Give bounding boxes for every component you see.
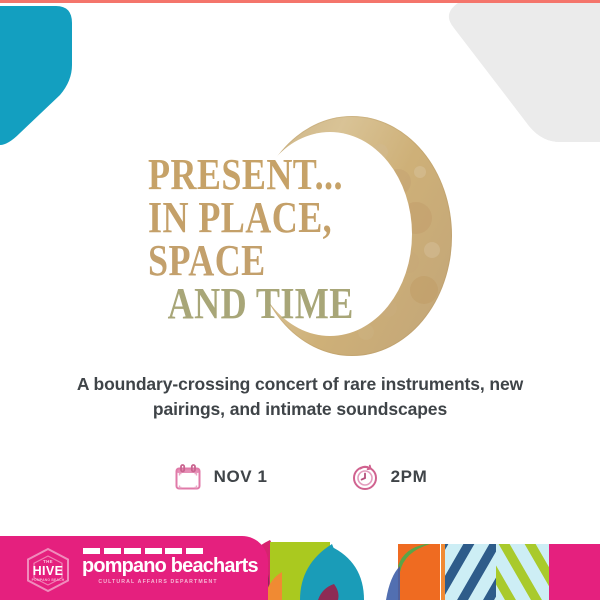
calendar-icon-svg	[173, 462, 203, 492]
title-line-2: IN PLACE,	[148, 198, 519, 239]
calendar-icon	[173, 462, 203, 492]
pompano-beach-arts-logo: pompano beacharts CULTURAL AFFAIRS DEPAR…	[82, 548, 242, 592]
event-date-label: NOV 1	[214, 467, 268, 487]
stopwatch-icon	[350, 462, 380, 492]
top-accent-rule	[0, 0, 600, 3]
pba-tagline: CULTURAL AFFAIRS DEPARTMENT	[82, 579, 234, 585]
event-poster: PRESENT... IN PLACE, SPACE AND TIME A bo…	[0, 0, 600, 600]
poster-title: PRESENT... IN PLACE, SPACE AND TIME	[0, 155, 600, 325]
hive-logo-main-text: HIVE	[24, 564, 72, 578]
event-time: 2PM	[350, 462, 428, 492]
stopwatch-icon-svg	[350, 462, 380, 492]
poster-subtitle: A boundary-crossing concert of rare inst…	[0, 372, 600, 422]
title-line-4: AND TIME	[148, 284, 519, 325]
bottom-logo-band: THE HIVE POMPANO BEACH pompano beacharts…	[0, 528, 600, 600]
event-time-label: 2PM	[391, 467, 428, 487]
title-line-1: PRESENT...	[148, 155, 519, 196]
hive-logo: THE HIVE POMPANO BEACH	[24, 547, 72, 593]
pba-wordmark-accent: arts	[224, 554, 257, 577]
teal-corner-svg	[0, 3, 600, 163]
hive-logo-sub-text: POMPANO BEACH	[24, 578, 72, 582]
pba-wordmark-main: pompano beach	[82, 554, 224, 577]
event-meta-row: NOV 1 2PM	[0, 462, 600, 492]
title-line-3: SPACE	[148, 241, 519, 282]
pba-wordmark: pompano beacharts	[82, 556, 237, 577]
teal-corner-shape	[0, 3, 600, 163]
event-date: NOV 1	[173, 462, 268, 492]
